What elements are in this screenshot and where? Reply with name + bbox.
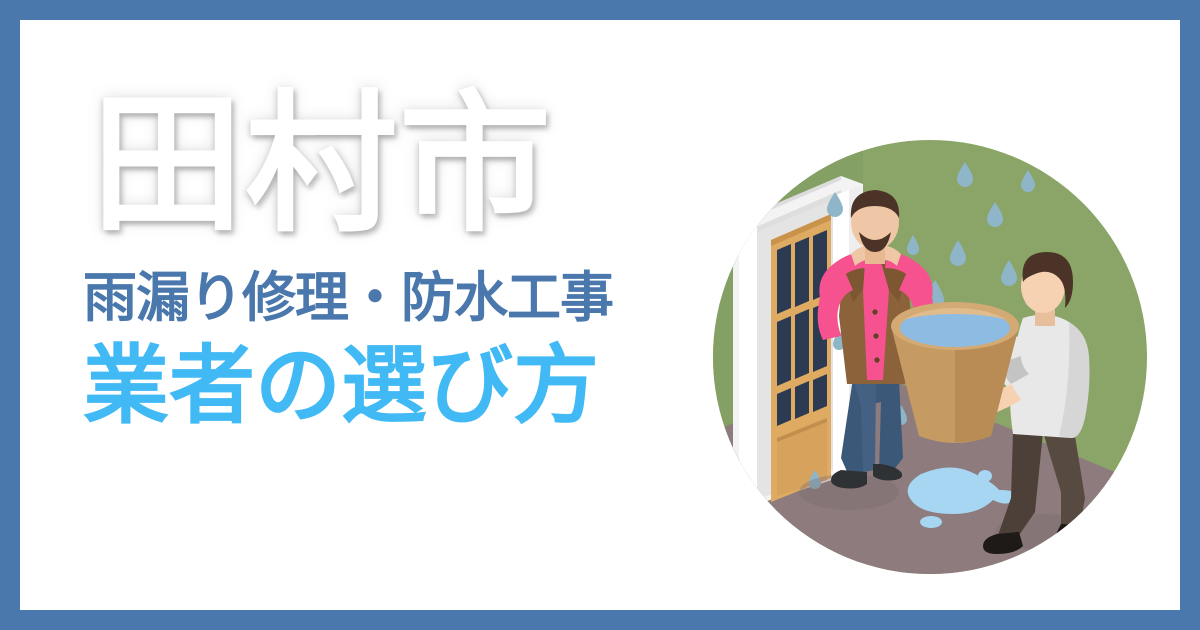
- illustration-water-leak: [713, 140, 1147, 575]
- shoe-front: [1055, 524, 1087, 542]
- inner-white-card: 田村市 雨漏り修理・防水工事 業者の選び方: [20, 20, 1180, 610]
- vest-button: [874, 357, 879, 362]
- shoe-left: [831, 470, 867, 489]
- vest-button: [873, 333, 878, 338]
- puddle-droplet: [920, 516, 942, 528]
- scene-group: [713, 140, 1147, 575]
- puddle-splash: [978, 470, 992, 482]
- subtitle: 雨漏り修理・防水工事: [83, 266, 715, 331]
- text-block: 田村市 雨漏り修理・防水工事 業者の選び方: [75, 80, 715, 550]
- banner-root: 田村市 雨漏り修理・防水工事 業者の選び方: [0, 0, 1200, 630]
- page-title: 田村市: [91, 80, 715, 250]
- vest-button: [872, 309, 877, 314]
- door-trim-left: [739, 218, 757, 512]
- water-leak-illustration-svg: [713, 140, 1147, 575]
- headline: 業者の選び方: [83, 337, 715, 436]
